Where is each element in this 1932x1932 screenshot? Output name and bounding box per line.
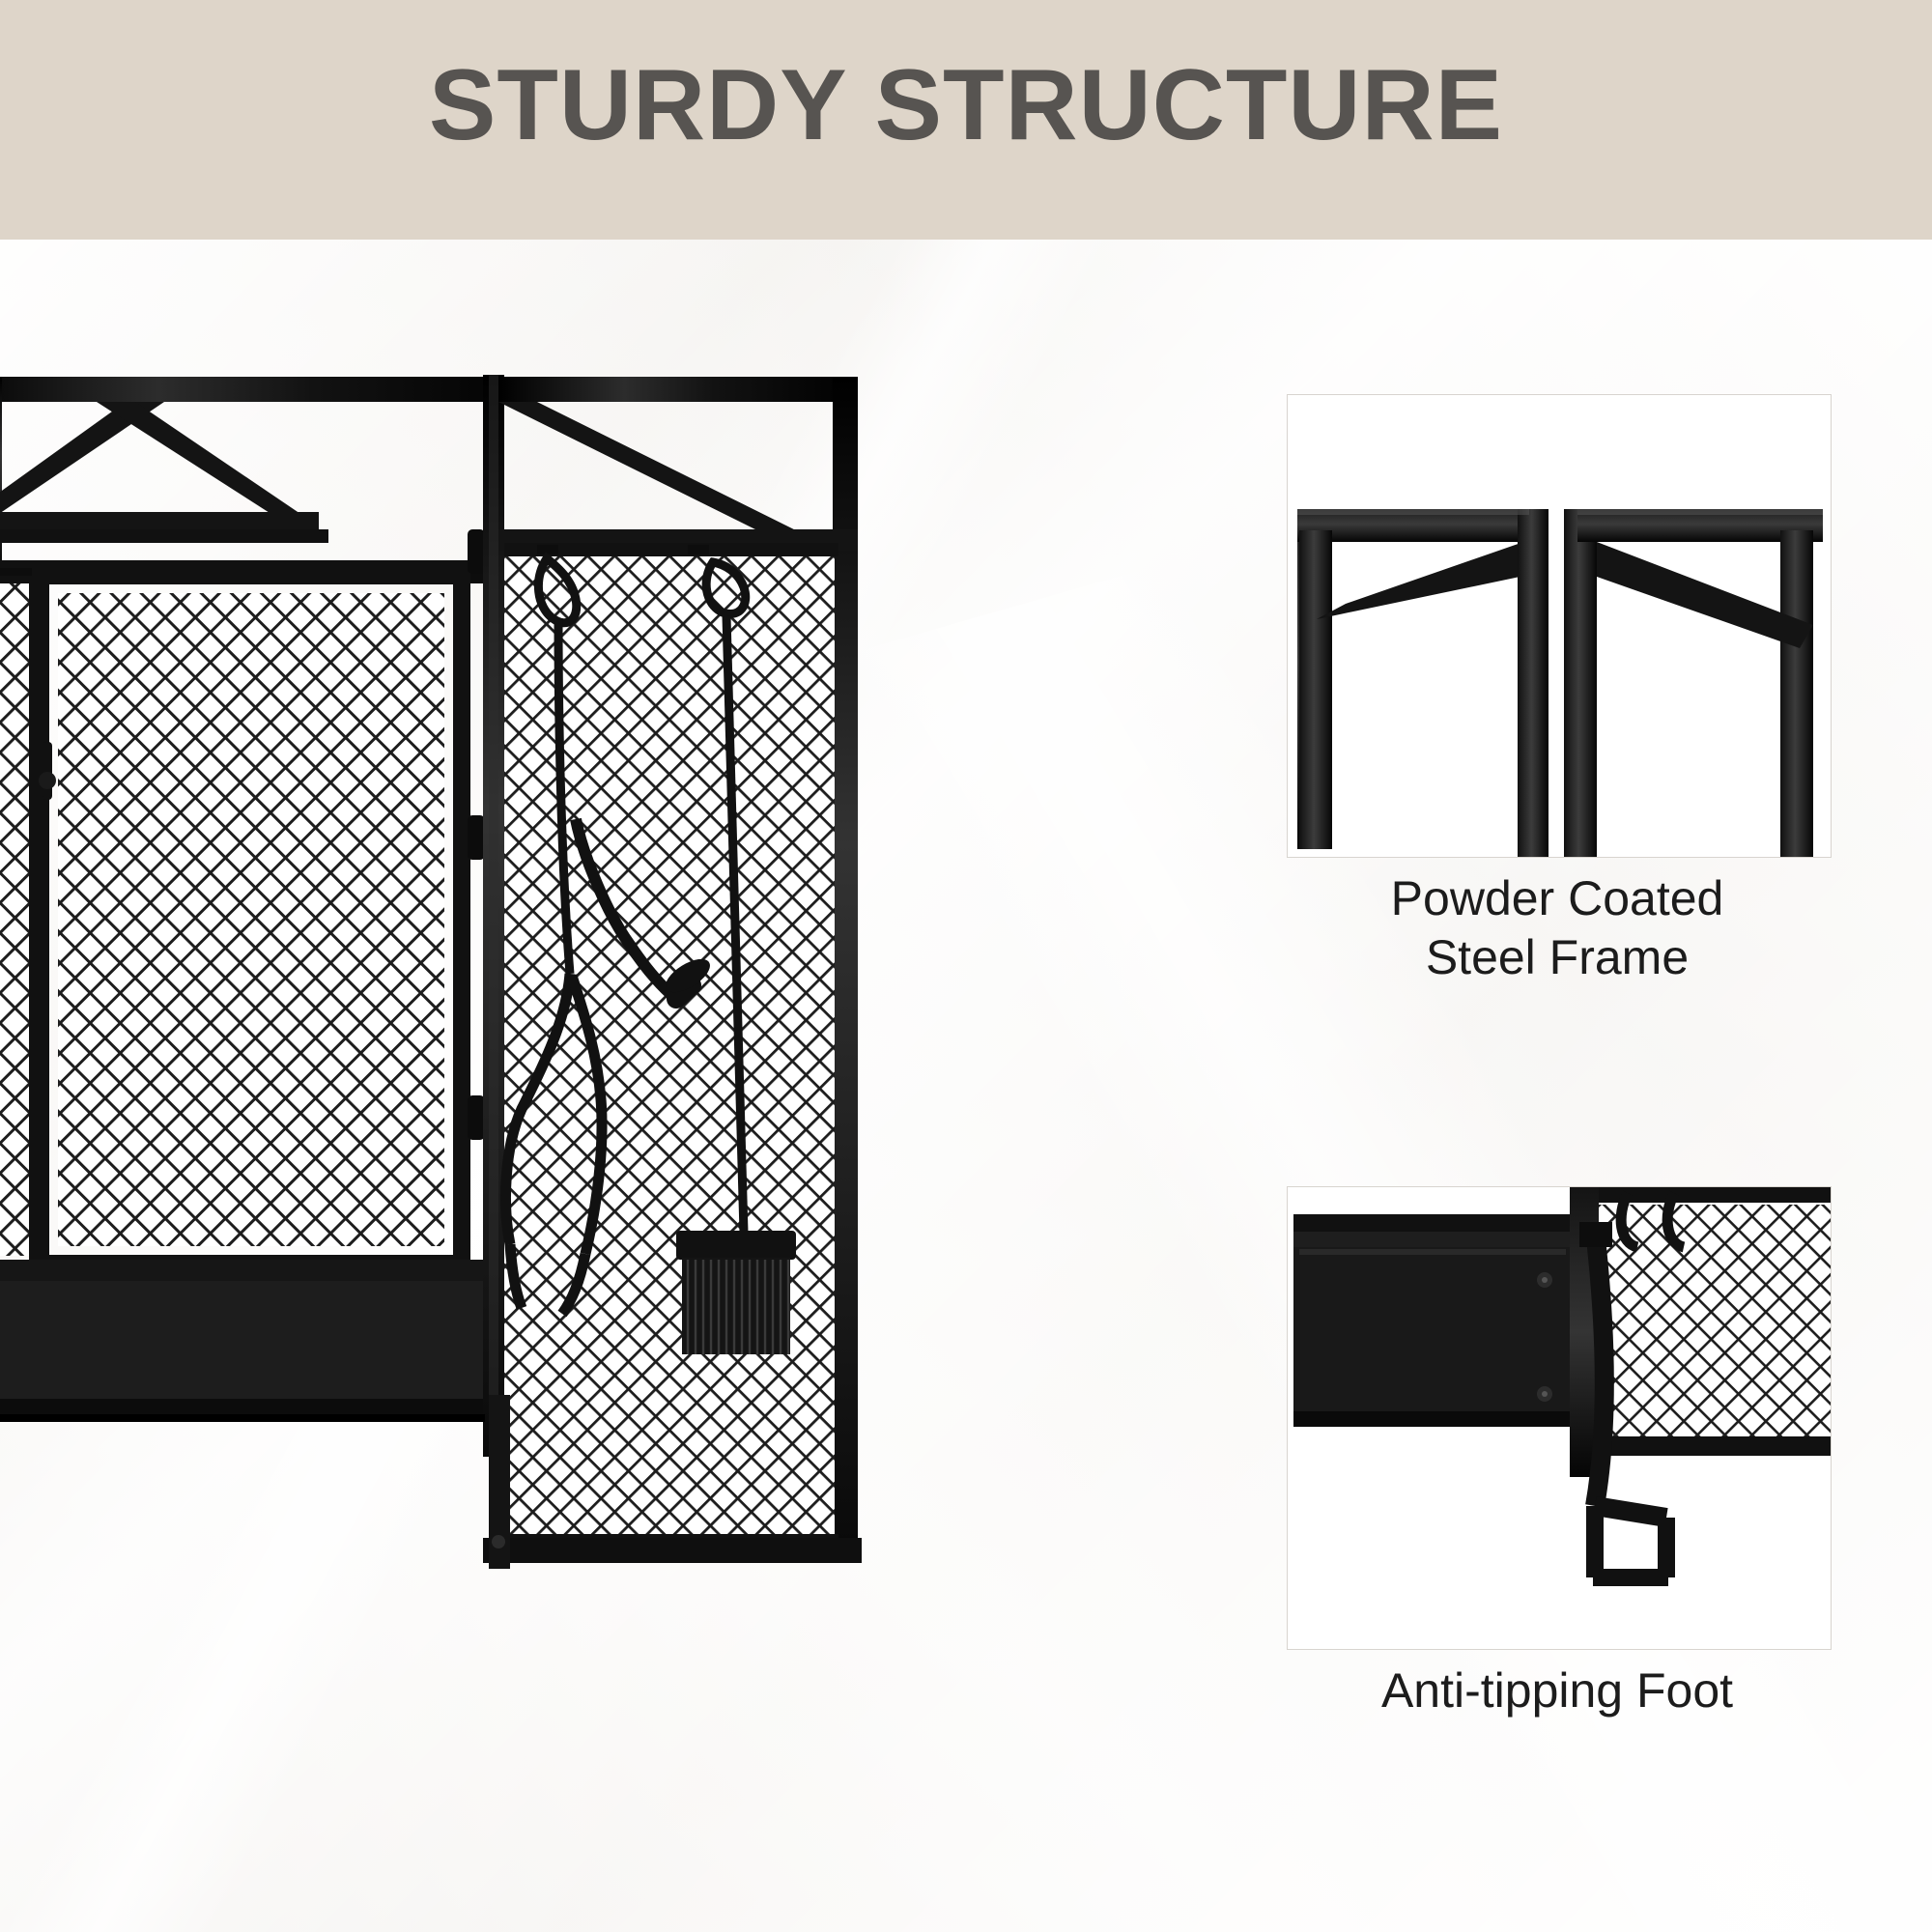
callout-caption-powder-coated-steel-frame: Powder Coated Steel Frame [1219, 869, 1895, 987]
corner-joint-detail-image [1288, 395, 1832, 858]
callout-caption-anti-tipping-foot: Anti-tipping Foot [1219, 1662, 1895, 1720]
callout-card-powder-coated-steel-frame [1287, 394, 1832, 858]
callout-caption-line1: Powder Coated [1219, 869, 1895, 928]
callout-card-anti-tipping-foot [1287, 1186, 1832, 1650]
broom-head [676, 1231, 796, 1354]
page-title: STURDY STRUCTURE [0, 50, 1932, 160]
fireplace-screen-illustration [0, 240, 1140, 1932]
anti-tipping-foot-detail-image [1288, 1187, 1832, 1650]
product-photo [0, 240, 1140, 1932]
callout-caption-line2: Steel Frame [1219, 928, 1895, 987]
callout-caption-line1: Anti-tipping Foot [1219, 1662, 1895, 1720]
product-feature-image: STURDY STRUCTURE [0, 0, 1932, 1932]
